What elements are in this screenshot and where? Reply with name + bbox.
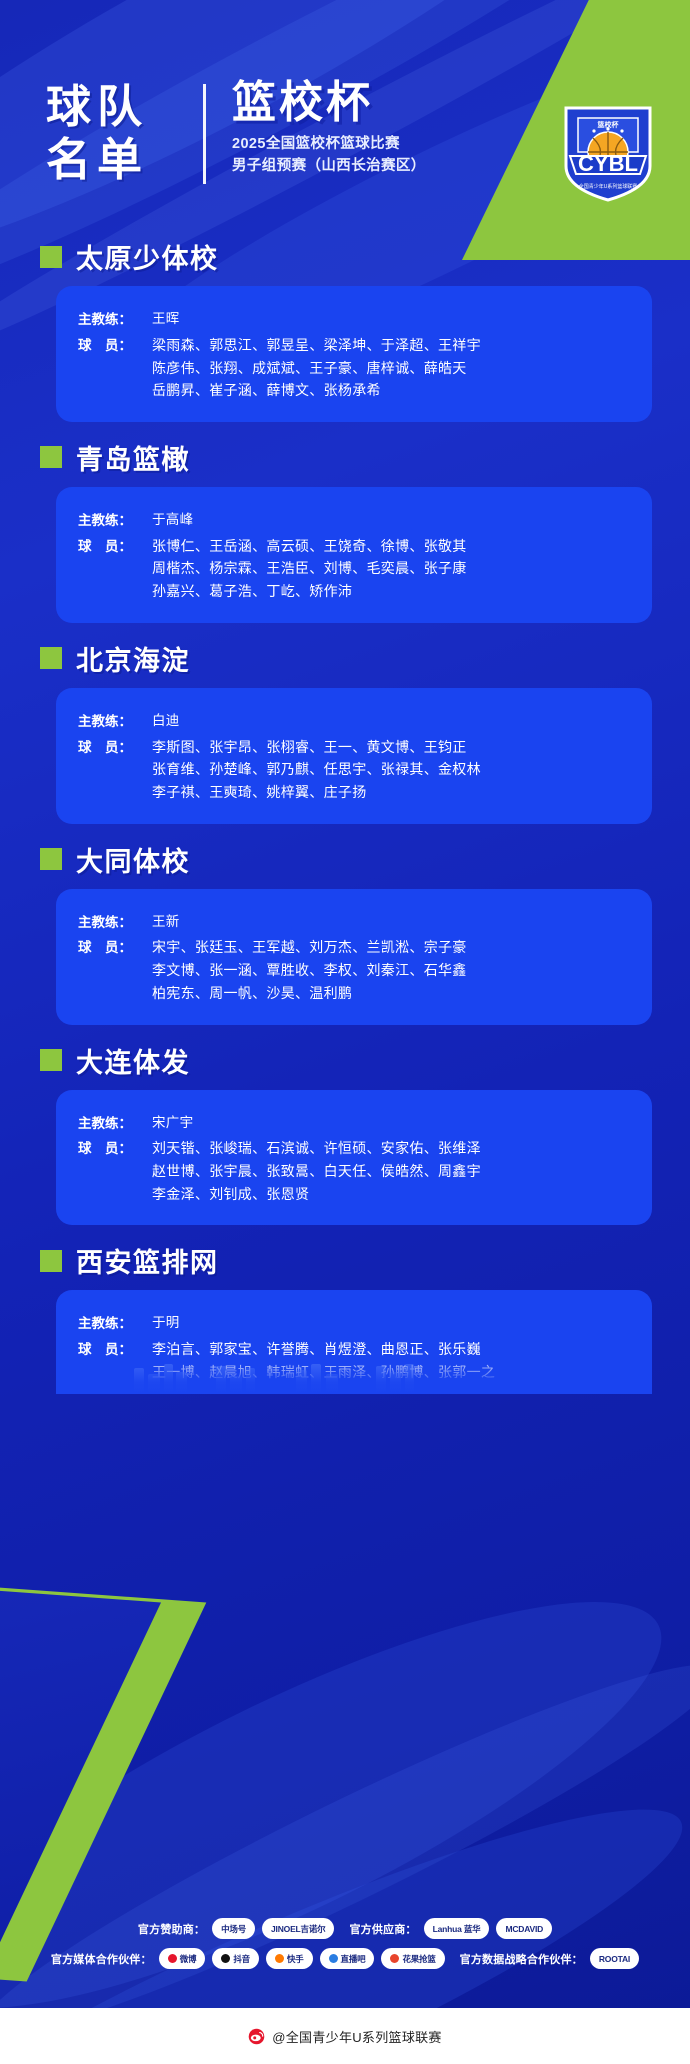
team-section: 西安篮排网 主教练： 于明 球 员： 李泊言、郭家宝、许誉腾、肖煜澄、曲恩正、张… [0, 1229, 690, 1394]
player-line: 陈彦伟、张翔、成斌斌、王子豪、唐梓诚、薛皓天 [152, 357, 481, 380]
page-title-line2: 名单 [46, 133, 148, 186]
supplier-label: 官方供应商： [349, 1921, 416, 1937]
team-header: 大同体校 [0, 828, 690, 889]
team-header: 西安篮排网 [0, 1229, 690, 1290]
team-roster-card: 主教练： 王晖 球 员： 梁雨森、郭思江、郭昱呈、梁泽坤、于泽超、王祥宇 陈彦伟… [56, 286, 652, 422]
event-subtitle-line1: 2025全国篮校杯篮球比赛 [232, 133, 426, 155]
team-header: 青岛篮橄 [0, 426, 690, 487]
team-section: 大连体发 主教练： 宋广宇 球 员： 刘天锴、张峻瑞、石滨诚、许恒硕、安家佑、张… [0, 1029, 690, 1226]
data-partner-logo: ROOTAI [590, 1948, 639, 1969]
supplier-logo: MCDAVID [496, 1918, 552, 1939]
media-logo: 快手 [266, 1948, 313, 1969]
players-row: 球 员： 刘天锴、张峻瑞、石滨诚、许恒硕、安家佑、张维泽 赵世博、张宇晨、张致暠… [78, 1137, 642, 1205]
player-line: 梁雨森、郭思江、郭昱呈、梁泽坤、于泽超、王祥宇 [152, 334, 481, 357]
team-roster-card: 主教练： 王新 球 员： 宋宇、张廷玉、王军越、刘万杰、兰凯淞、宗子豪 李文博、… [56, 889, 652, 1025]
coach-row: 主教练： 王晖 [78, 308, 642, 330]
coach-name: 于高峰 [152, 509, 193, 531]
cybl-shield-icon: CYBL 篮校杯 全国青少年U系列篮球联赛 [560, 100, 656, 204]
team-name: 北京海淀 [76, 639, 190, 678]
team-bullet-icon [40, 848, 62, 870]
players-label: 球 员： [78, 936, 152, 956]
media-logo: 抖音 [212, 1948, 259, 1969]
media-logo: 微博 [159, 1948, 206, 1969]
team-section: 太原少体校 主教练： 王晖 球 员： 梁雨森、郭思江、郭昱呈、梁泽坤、于泽超、王… [0, 225, 690, 422]
team-section: 青岛篮橄 主教练： 于高峰 球 员： 张博仁、王岳涵、高云硕、王饶奇、徐博、张敬… [0, 426, 690, 623]
team-bullet-icon [40, 647, 62, 669]
poster-root: 球队 名单 篮校杯 2025全国篮校杯篮球比赛 男子组预赛（山西长治赛区） CY… [0, 0, 690, 2064]
coach-row: 主教练： 于高峰 [78, 509, 642, 531]
team-section: 大同体校 主教练： 王新 球 员： 宋宇、张廷玉、王军越、刘万杰、兰凯淞、宗子豪… [0, 828, 690, 1025]
coach-name: 白迪 [152, 710, 180, 732]
players-row: 球 员： 张博仁、王岳涵、高云硕、王饶奇、徐博、张敬其 周楷杰、杨宗霖、王浩臣、… [78, 535, 642, 603]
attribution-handle: @全国青少年U系列篮球联赛 [272, 2027, 442, 2046]
player-line: 张博仁、王岳涵、高云硕、王饶奇、徐博、张敬其 [152, 535, 467, 558]
coach-label: 主教练： [78, 1312, 152, 1332]
event-subtitle-line2: 男子组预赛（山西长治赛区） [232, 155, 426, 177]
team-bullet-icon [40, 246, 62, 268]
coach-label: 主教练： [78, 1112, 152, 1132]
svg-text:CYBL: CYBL [578, 151, 638, 176]
players-row: 球 员： 宋宇、张廷玉、王军越、刘万杰、兰凯淞、宗子豪 李文博、张一涵、覃胜收、… [78, 936, 642, 1004]
player-line: 李金泽、刘钊成、张恩贤 [152, 1183, 481, 1206]
player-line: 李斯图、张宇昂、张栩睿、王一、黄文博、王钧正 [152, 736, 481, 759]
players-label: 球 员： [78, 334, 152, 354]
poster-title-block: 球队 名单 [46, 80, 148, 186]
team-name: 青岛篮橄 [76, 438, 190, 477]
team-bullet-icon [40, 1049, 62, 1071]
players-label: 球 员： [78, 1137, 152, 1157]
player-line: 刘天锴、张峻瑞、石滨诚、许恒硕、安家佑、张维泽 [152, 1137, 481, 1160]
player-line: 岳鹏昇、崔子涵、薛博文、张杨承希 [152, 379, 481, 402]
attribution-bar: @全国青少年U系列篮球联赛 [0, 2008, 690, 2064]
player-line: 宋宇、张廷玉、王军越、刘万杰、兰凯淞、宗子豪 [152, 936, 467, 959]
player-line: 周楷杰、杨宗霖、王浩臣、刘博、毛奕晨、张子康 [152, 557, 467, 580]
players-label: 球 员： [78, 736, 152, 756]
media-label: 官方媒体合作伙伴： [51, 1951, 152, 1967]
coach-label: 主教练： [78, 710, 152, 730]
players-row: 球 员： 李斯图、张宇昂、张栩睿、王一、黄文博、王钧正 张育维、孙楚峰、郭乃麒、… [78, 736, 642, 804]
page-title-line1: 球队 [46, 80, 148, 133]
player-line: 李文博、张一涵、覃胜收、李权、刘秦江、石华鑫 [152, 959, 467, 982]
players-value: 刘天锴、张峻瑞、石滨诚、许恒硕、安家佑、张维泽 赵世博、张宇晨、张致暠、白天任、… [152, 1137, 481, 1205]
player-line: 孙嘉兴、葛子浩、丁屹、矫作沛 [152, 580, 467, 603]
team-header: 太原少体校 [0, 225, 690, 286]
team-header: 大连体发 [0, 1029, 690, 1090]
players-value: 梁雨森、郭思江、郭昱呈、梁泽坤、于泽超、王祥宇 陈彦伟、张翔、成斌斌、王子豪、唐… [152, 334, 481, 402]
supplier-logo: Lanhua 蓝华 [424, 1918, 490, 1939]
team-roster-card: 主教练： 于明 球 员： 李泊言、郭家宝、许誉腾、肖煜澄、曲恩正、张乐巍 王一博… [56, 1290, 652, 1394]
coach-row: 主教练： 王新 [78, 911, 642, 933]
players-value: 宋宇、张廷玉、王军越、刘万杰、兰凯淞、宗子豪 李文博、张一涵、覃胜收、李权、刘秦… [152, 936, 467, 1004]
players-value: 张博仁、王岳涵、高云硕、王饶奇、徐博、张敬其 周楷杰、杨宗霖、王浩臣、刘博、毛奕… [152, 535, 467, 603]
svg-text:全国青少年U系列篮球联赛: 全国青少年U系列篮球联赛 [579, 183, 638, 190]
team-name: 大连体发 [76, 1041, 190, 1080]
team-bullet-icon [40, 1250, 62, 1272]
player-line: 张育维、孙楚峰、郭乃麒、任思宇、张禄其、金权林 [152, 758, 481, 781]
coach-row: 主教练： 于明 [78, 1312, 642, 1334]
player-line: 柏宪东、周一帆、沙昊、温利鹏 [152, 982, 467, 1005]
team-roster-card: 主教练： 白迪 球 员： 李斯图、张宇昂、张栩睿、王一、黄文博、王钧正 张育维、… [56, 688, 652, 824]
sponsor-logo: JINOEL吉诺尔 [262, 1918, 334, 1939]
coach-name: 于明 [152, 1312, 180, 1334]
coach-name: 宋广宇 [152, 1112, 193, 1134]
team-roster-card: 主教练： 于高峰 球 员： 张博仁、王岳涵、高云硕、王饶奇、徐博、张敬其 周楷杰… [56, 487, 652, 623]
player-line: 李子祺、王奭琦、姚梓翼、庄子扬 [152, 781, 481, 804]
team-name: 西安篮排网 [76, 1241, 219, 1280]
coach-row: 主教练： 宋广宇 [78, 1112, 642, 1134]
team-header: 北京海淀 [0, 627, 690, 688]
partners-footer: 官方赞助商： 中场号 JINOEL吉诺尔 官方供应商： Lanhua 蓝华 MC… [0, 1906, 690, 1998]
player-line: 赵世博、张宇晨、张致暠、白天任、侯皓然、周鑫宇 [152, 1160, 481, 1183]
players-row: 球 员： 梁雨森、郭思江、郭昱呈、梁泽坤、于泽超、王祥宇 陈彦伟、张翔、成斌斌、… [78, 334, 642, 402]
event-title-block: 篮校杯 2025全国篮校杯篮球比赛 男子组预赛（山西长治赛区） [232, 78, 426, 177]
team-roster-card: 主教练： 宋广宇 球 员： 刘天锴、张峻瑞、石滨诚、许恒硕、安家佑、张维泽 赵世… [56, 1090, 652, 1226]
cybl-logo: CYBL 篮校杯 全国青少年U系列篮球联赛 [560, 100, 656, 204]
coach-label: 主教练： [78, 911, 152, 931]
media-logo: 直播吧 [320, 1948, 375, 1969]
coach-name: 王新 [152, 911, 180, 933]
players-label: 球 员： [78, 535, 152, 555]
event-title: 篮校杯 [232, 78, 426, 128]
media-row: 官方媒体合作伙伴： 微博 抖音 快手 直播吧 花果抢篮 官方数据战略合作伙伴： … [0, 1948, 690, 1969]
sponsor-logo: 中场号 [212, 1918, 255, 1939]
team-bullet-icon [40, 446, 62, 468]
team-name: 太原少体校 [76, 237, 219, 276]
players-value: 李斯图、张宇昂、张栩睿、王一、黄文博、王钧正 张育维、孙楚峰、郭乃麒、任思宇、张… [152, 736, 481, 804]
coach-label: 主教练： [78, 308, 152, 328]
sponsor-row: 官方赞助商： 中场号 JINOEL吉诺尔 官方供应商： Lanhua 蓝华 MC… [0, 1918, 690, 1939]
roster-fade-mask [56, 1354, 652, 1394]
coach-name: 王晖 [152, 308, 180, 330]
weibo-icon [248, 2028, 265, 2045]
title-divider [203, 84, 206, 184]
team-list: 太原少体校 主教练： 王晖 球 员： 梁雨森、郭思江、郭昱呈、梁泽坤、于泽超、王… [0, 225, 690, 1398]
data-partner-label: 官方数据战略合作伙伴： [460, 1951, 583, 1967]
sponsor-label: 官方赞助商： [138, 1921, 205, 1937]
coach-row: 主教练： 白迪 [78, 710, 642, 732]
coach-label: 主教练： [78, 509, 152, 529]
team-name: 大同体校 [76, 840, 190, 879]
team-section: 北京海淀 主教练： 白迪 球 员： 李斯图、张宇昂、张栩睿、王一、黄文博、王钧正… [0, 627, 690, 824]
media-logo: 花果抢篮 [381, 1948, 444, 1969]
